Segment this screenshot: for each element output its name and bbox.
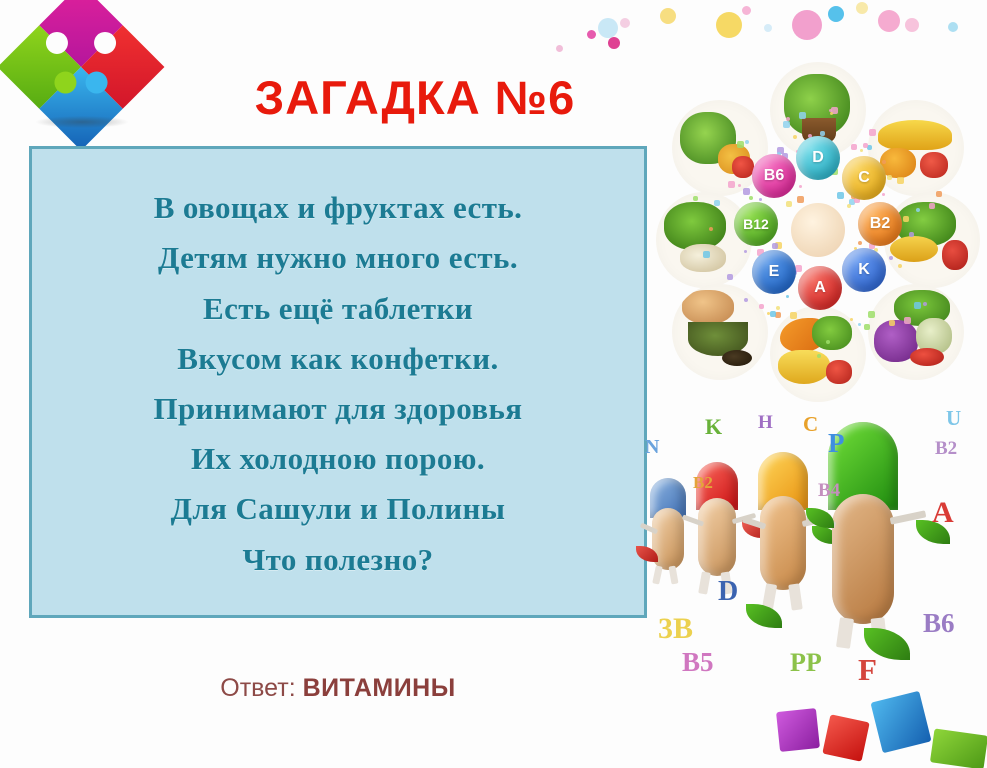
vitamin-letter: PP	[790, 648, 822, 678]
micro-dot	[850, 318, 853, 321]
confetti-dot	[856, 2, 868, 14]
pill-leg	[698, 571, 711, 594]
vitamin-letter: B2	[935, 438, 957, 460]
micro-dot	[790, 312, 797, 319]
petal-green-vegetables	[656, 192, 752, 288]
micro-dot	[738, 184, 741, 187]
lemon	[778, 350, 830, 384]
answer-label: Ответ:	[220, 674, 302, 702]
micro-dot	[703, 251, 710, 258]
puzzle-piece-red	[822, 714, 869, 761]
micro-dot	[916, 208, 920, 212]
pill-leg	[652, 565, 663, 584]
micro-dot	[786, 201, 792, 207]
vitamin-bubble-d: D	[796, 136, 840, 180]
micro-dot	[929, 203, 935, 209]
bread	[682, 290, 734, 324]
riddle-line: Вкусом как конфетки.	[177, 334, 498, 384]
micro-dot	[858, 241, 862, 245]
slide-canvas: ЗАГАДКА №6 В овощах и фруктах есть. Детя…	[0, 0, 987, 768]
vitamin-letter: P	[828, 428, 845, 459]
confetti-dot	[948, 22, 958, 32]
tomato	[920, 152, 948, 178]
pill-body	[760, 496, 806, 590]
riddle-line: Для Сашули и Полины	[171, 484, 506, 534]
micro-dot	[820, 131, 825, 136]
micro-dot	[775, 312, 781, 318]
micro-dot	[799, 185, 802, 188]
vitamin-bubble-e: E	[752, 250, 796, 294]
confetti-dot	[764, 24, 772, 32]
pill-leg	[668, 566, 678, 585]
micro-dot	[914, 302, 921, 309]
pill-leg	[788, 583, 803, 610]
vitamin-bubble-b12: B12	[734, 202, 778, 246]
micro-dot	[772, 243, 778, 249]
petal-mixed-vegetables	[868, 284, 964, 380]
vitamin-letter: H	[758, 412, 773, 434]
micro-dot	[936, 191, 942, 197]
vitamin-bubble-a: A	[798, 266, 842, 310]
vegetable-cluster	[664, 202, 726, 250]
riddle-line: Что полезно?	[242, 535, 433, 585]
micro-dot	[743, 188, 750, 195]
micro-dot	[799, 112, 806, 119]
confetti-dot	[598, 18, 618, 38]
flower-core	[791, 203, 845, 257]
micro-dot	[847, 204, 851, 208]
vitamin-flower-illustration: B6 D C B12 B2 E A K	[652, 58, 982, 398]
micro-dot	[882, 193, 885, 196]
tomato	[826, 360, 852, 384]
micro-dot	[744, 298, 748, 302]
corn	[890, 236, 938, 262]
micro-dot	[749, 196, 753, 200]
vitamin-letter: D	[718, 576, 738, 608]
bottom-puzzle-decoration	[770, 690, 980, 760]
vitamin-letter: B6	[923, 608, 955, 639]
micro-dot	[737, 141, 744, 148]
confetti-dot	[587, 30, 596, 39]
micro-dot	[851, 144, 857, 150]
vitamin-letter: U	[946, 406, 961, 431]
puzzle-piece-purple	[776, 708, 820, 752]
micro-dot	[745, 140, 749, 144]
micro-dot	[909, 232, 914, 237]
micro-dot	[837, 192, 844, 199]
vitamin-letter: 3B	[658, 612, 693, 646]
micro-dot	[770, 311, 776, 317]
micro-dot	[869, 129, 876, 136]
riddle-line: Детям нужно много есть.	[158, 233, 518, 283]
pepper	[942, 240, 968, 270]
green-leaf	[746, 604, 782, 628]
pill-leg	[836, 617, 854, 649]
micro-dot	[903, 216, 909, 222]
micro-dot	[728, 181, 735, 188]
confetti-dot	[660, 8, 676, 24]
micro-dot	[797, 196, 804, 203]
vitamin-letter: F	[858, 652, 877, 688]
micro-dot	[727, 274, 733, 280]
micro-dot	[868, 311, 875, 318]
micro-dot	[759, 304, 764, 309]
confetti-dot	[792, 10, 822, 40]
vitamin-letter: C	[803, 412, 818, 437]
riddle-line: В овощах и фруктах есть.	[154, 183, 523, 233]
vitamin-bubble-b6: B6	[752, 154, 796, 198]
banana	[878, 120, 952, 150]
micro-dot	[830, 112, 833, 115]
micro-dot	[858, 323, 861, 326]
confetti-dot	[905, 18, 919, 32]
micro-dot	[904, 317, 911, 324]
micro-dot	[714, 200, 720, 206]
micro-dot	[923, 302, 927, 306]
micro-dot	[786, 295, 789, 298]
micro-dot	[897, 177, 904, 184]
confetti-dot	[878, 10, 900, 32]
vitamin-letter: A	[932, 496, 954, 530]
micro-dot	[860, 149, 863, 152]
riddle-line: Принимают для здоровья	[154, 384, 523, 434]
answer-word: ВИТАМИНЫ	[303, 674, 456, 702]
greens	[812, 316, 852, 350]
cauliflower	[680, 244, 726, 272]
puzzle-piece-green	[930, 728, 987, 768]
puzzle-piece-blue	[870, 691, 931, 754]
vitamin-bubble-c: C	[842, 156, 886, 200]
micro-dot	[776, 306, 780, 310]
pill-characters-illustration: NKHCPUB2B2B4AD3BB5PPB6F	[640, 400, 987, 700]
micro-dot	[889, 320, 895, 326]
confetti-dot	[556, 45, 563, 52]
vitamin-letter: B4	[818, 480, 840, 502]
vitamin-bubble-b2: B2	[858, 202, 902, 246]
micro-dot	[889, 256, 893, 260]
riddle-line: Есть ещё таблетки	[203, 284, 473, 334]
confetti-dot	[608, 37, 620, 49]
tomatoes	[910, 348, 944, 366]
micro-dot	[759, 198, 762, 201]
confetti-dot	[828, 6, 844, 22]
micro-dot	[882, 160, 886, 164]
vitamin-letter: B5	[682, 647, 714, 678]
micro-dot	[887, 175, 892, 180]
confetti-dot	[742, 6, 751, 15]
puzzle-logo	[8, 6, 158, 134]
answer-line: Ответ: ВИТАМИНЫ	[29, 674, 647, 703]
confetti-dot	[620, 18, 630, 28]
puzzle-logo-shadow	[36, 116, 128, 128]
vitamin-letter: K	[705, 414, 722, 440]
riddle-text-box: В овощах и фруктах есть. Детям нужно мно…	[29, 146, 647, 618]
micro-dot	[783, 121, 790, 128]
riddle-line: Их холодною порою.	[191, 434, 485, 484]
confetti-dot	[716, 12, 742, 38]
pill-body	[698, 498, 736, 576]
vitamin-bubble-k: K	[842, 248, 886, 292]
pill-body	[832, 494, 894, 624]
micro-dot	[864, 324, 870, 330]
page-title: ЗАГАДКА №6	[180, 70, 650, 125]
vitamin-letter: N	[645, 436, 659, 459]
tomato	[732, 156, 754, 178]
petal-nuts-legumes	[672, 284, 768, 380]
vitamin-letter: B2	[693, 473, 713, 493]
seeds	[722, 350, 752, 366]
